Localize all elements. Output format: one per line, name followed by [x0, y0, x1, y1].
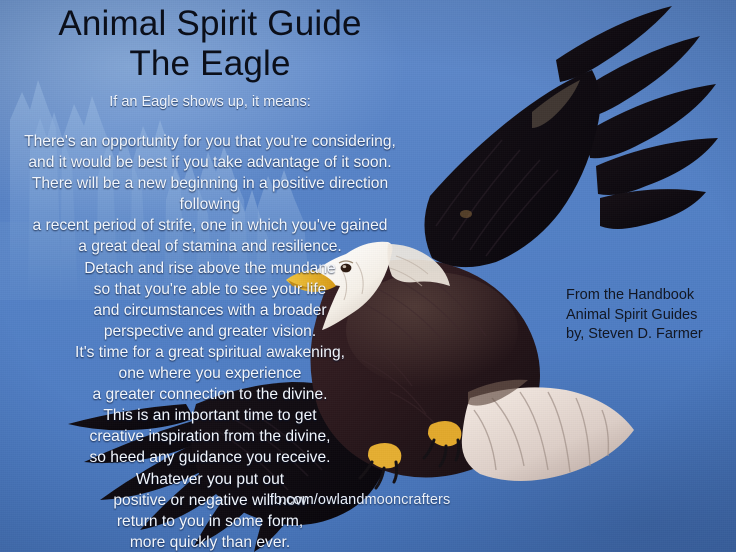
body-copy: There's an opportunity for you that you'…	[0, 131, 420, 552]
lede-text: If an Eagle shows up, it means:	[0, 93, 420, 111]
eagle-spirit-guide-poster: Animal Spirit Guide The Eagle If an Eagl…	[0, 0, 736, 552]
page-title: Animal Spirit Guide The Eagle	[0, 4, 420, 84]
watermark-link: fb.com/owlandmooncrafters	[210, 492, 510, 508]
source-credit: From the Handbook Animal Spirit Guides b…	[566, 286, 736, 345]
eagle-tail	[462, 380, 634, 481]
eagle-right-wing	[424, 6, 718, 267]
